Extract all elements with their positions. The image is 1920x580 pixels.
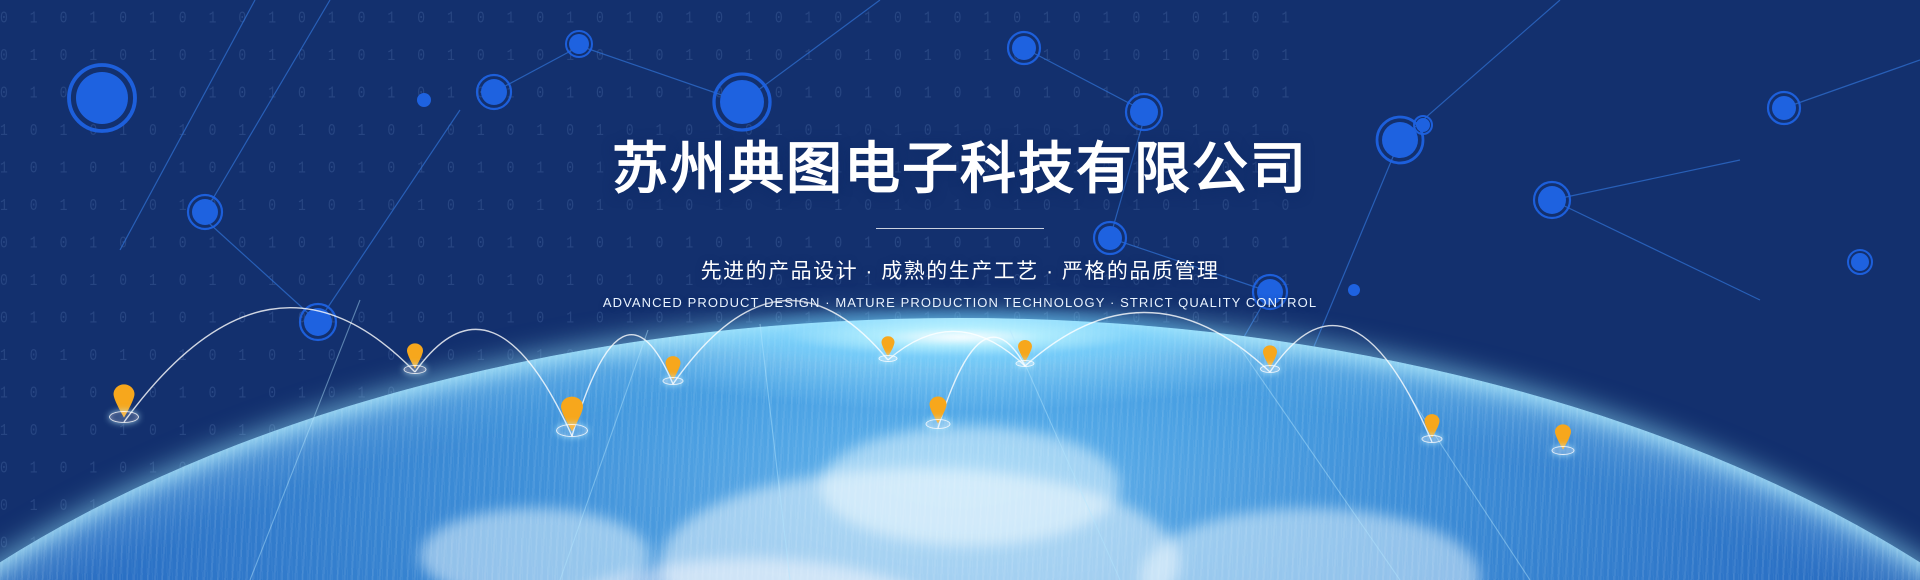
map-pin-7-teardrop	[1018, 340, 1032, 362]
map-pin-5-glow-ring	[879, 355, 898, 362]
map-pin-3[interactable]	[561, 396, 583, 432]
tagline-english: ADVANCED PRODUCT DESIGN · MATURE PRODUCT…	[0, 295, 1920, 310]
company-title: 苏州典图电子科技有限公司	[0, 138, 1920, 200]
map-pin-4-glow-ring	[663, 377, 684, 385]
map-pin-7[interactable]	[1018, 340, 1032, 362]
title-divider	[876, 228, 1044, 229]
map-pin-8-glow-ring	[1260, 365, 1280, 373]
banner-content: 苏州典图电子科技有限公司 先进的产品设计 · 成熟的生产工艺 · 严格的品质管理…	[0, 0, 1920, 310]
map-pin-2-glow-ring	[404, 365, 427, 374]
map-pin-9[interactable]	[1555, 424, 1571, 450]
map-pin-5-teardrop	[882, 336, 895, 357]
map-pin-10-glow-ring	[1422, 435, 1443, 443]
map-pin-3-glow-ring	[556, 424, 588, 437]
tagline-chinese: 先进的产品设计 · 成熟的生产工艺 · 严格的品质管理	[0, 255, 1920, 285]
map-pin-5[interactable]	[882, 336, 895, 357]
map-pin-4[interactable]	[666, 356, 681, 380]
map-pin-6-glow-ring	[926, 419, 951, 429]
map-pin-8[interactable]	[1263, 345, 1277, 368]
hero-banner: 0101010101010101010101010101010101010101…	[0, 0, 1920, 580]
map-pin-9-glow-ring	[1552, 446, 1575, 455]
map-pin-7-glow-ring	[1016, 360, 1035, 367]
map-pin-10[interactable]	[1425, 414, 1440, 438]
map-pin-2[interactable]	[407, 343, 423, 369]
map-pin-6[interactable]	[930, 396, 947, 424]
map-pin-1-glow-ring	[109, 411, 139, 423]
map-pin-1[interactable]	[114, 384, 135, 418]
